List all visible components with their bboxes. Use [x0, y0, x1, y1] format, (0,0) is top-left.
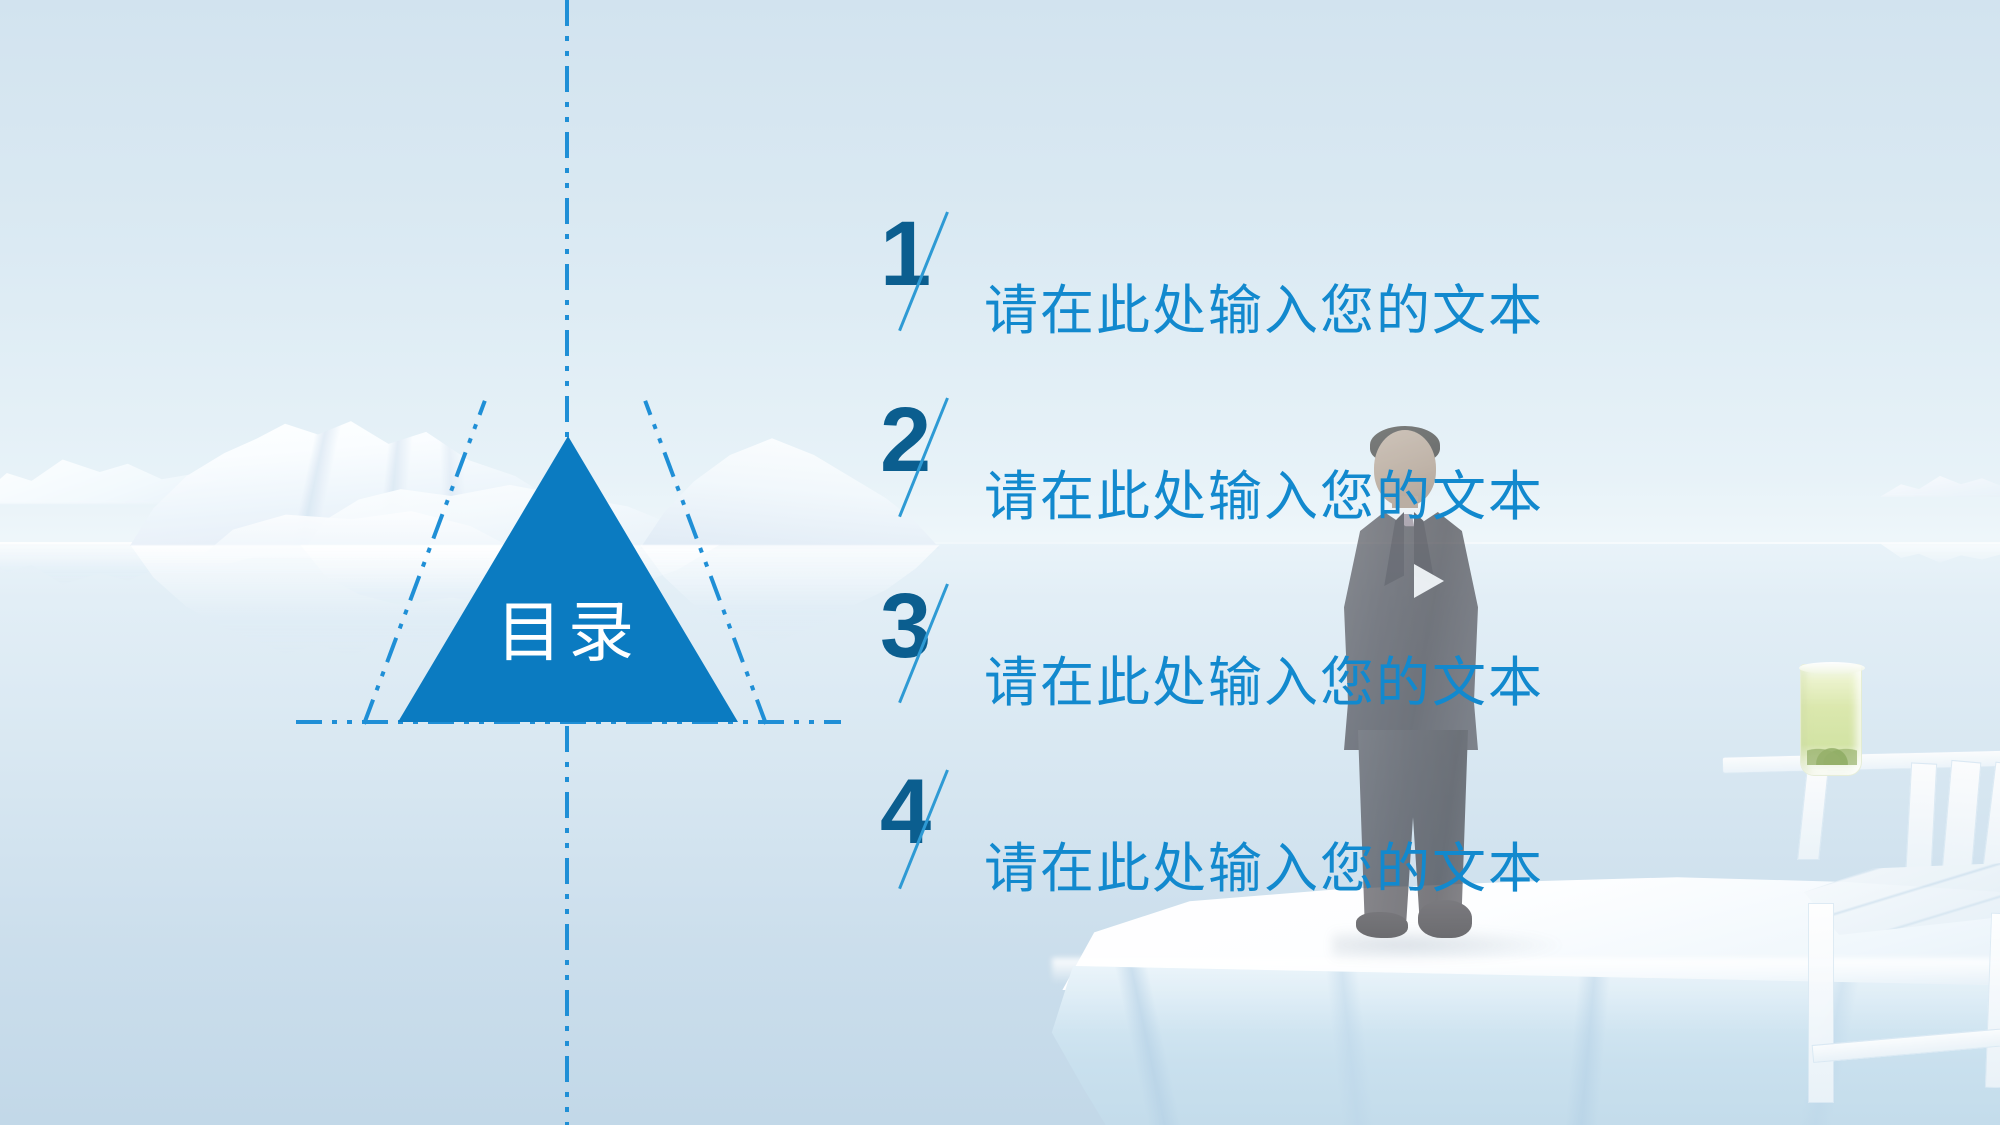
- agenda-number-3: 3: [880, 580, 931, 672]
- page-title: 目录: [496, 600, 640, 722]
- agenda-text-4[interactable]: 请在此处输入您的文本: [984, 824, 1544, 903]
- agenda-item-4[interactable]: 4 请在此处输入您的文本: [880, 766, 1880, 952]
- agenda-list: 1 请在此处输入您的文本 2 请在此处输入您的文本 3 请在此处输入您的文本 4…: [880, 208, 1880, 952]
- chair-back-leg: [1985, 913, 2000, 1089]
- agenda-text-2[interactable]: 请在此处输入您的文本: [984, 452, 1544, 531]
- agenda-text-3[interactable]: 请在此处输入您的文本: [984, 638, 1544, 717]
- presentation-slide: 目录 1 请在此处输入您的文本 2 请在此处输入您的文本 3 请在此处输入您的文…: [0, 0, 2000, 1125]
- triangle-badge-group: 目录: [368, 398, 768, 726]
- agenda-number-4: 4: [880, 766, 931, 858]
- agenda-number-2: 2: [880, 394, 931, 486]
- agenda-item-1[interactable]: 1 请在此处输入您的文本: [880, 208, 1880, 394]
- chair-stretcher: [1812, 1025, 2000, 1063]
- agenda-number-1: 1: [880, 208, 931, 300]
- iceberg-far-right-icon: [1880, 467, 2000, 497]
- chair-backrest-slat-1: [1905, 762, 1937, 883]
- agenda-item-3[interactable]: 3 请在此处输入您的文本: [880, 580, 1880, 766]
- agenda-text-1[interactable]: 请在此处输入您的文本: [984, 266, 1544, 345]
- agenda-item-2[interactable]: 2 请在此处输入您的文本: [880, 394, 1880, 580]
- solid-triangle-badge[interactable]: 目录: [398, 436, 738, 722]
